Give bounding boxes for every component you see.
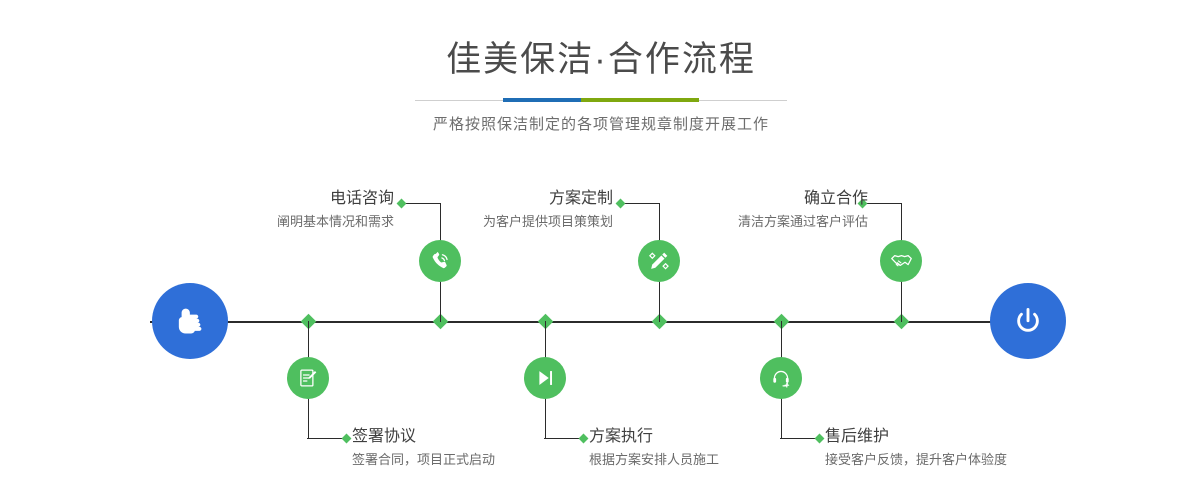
- connector-horizontal-1: [401, 203, 440, 204]
- step-name-1: 电话咨询: [277, 188, 394, 210]
- step-label-1: 电话咨询 阐明基本情况和需求: [277, 188, 394, 232]
- connector-horizontal-4: [544, 438, 583, 439]
- handshake-icon: [889, 249, 914, 274]
- step-name-4: 方案执行: [589, 426, 719, 448]
- label-marker-4: [579, 434, 589, 444]
- step-name-3: 方案定制: [483, 188, 613, 210]
- headset-support-icon: [769, 366, 793, 390]
- power-icon: [1008, 301, 1048, 341]
- timeline-axis: [150, 321, 1052, 323]
- step-name-6: 确立合作: [738, 188, 868, 210]
- pencil-ruler-icon: [647, 249, 671, 273]
- step-label-3: 方案定制 为客户提供项目策策划: [483, 188, 613, 232]
- step-label-4: 方案执行 根据方案安排人员施工: [589, 426, 719, 470]
- step-desc-1: 阐明基本情况和需求: [277, 212, 394, 232]
- step-icon-6: [880, 240, 922, 282]
- flow-infographic: 佳美保洁·合作流程 严格按照保洁制定的各项管理规章制度开展工作: [0, 0, 1202, 502]
- step-icon-4: [524, 357, 566, 399]
- step-icon-1: [419, 240, 461, 282]
- step-icon-3: [638, 240, 680, 282]
- step-desc-3: 为客户提供项目策策划: [483, 212, 613, 232]
- step-desc-6: 清洁方案通过客户评估: [738, 212, 868, 232]
- document-pencil-icon: [296, 366, 320, 390]
- step-label-6: 确立合作 清洁方案通过客户评估: [738, 188, 868, 232]
- connector-horizontal-2: [307, 438, 346, 439]
- label-marker-2: [342, 434, 352, 444]
- step-icon-5: [760, 357, 802, 399]
- timeline-end-badge: [990, 283, 1066, 359]
- connector-horizontal-3: [620, 203, 659, 204]
- label-marker-3: [616, 198, 626, 208]
- label-marker-5: [815, 434, 825, 444]
- timeline: 电话咨询 阐明基本情况和需求 签署协议 签署合同，项目正式启动: [0, 0, 1202, 502]
- connector-horizontal-5: [780, 438, 819, 439]
- step-desc-2: 签署合同，项目正式启动: [352, 450, 495, 470]
- step-label-2: 签署协议 签署合同，项目正式启动: [352, 426, 495, 470]
- step-desc-4: 根据方案安排人员施工: [589, 450, 719, 470]
- timeline-start-badge: [152, 283, 228, 359]
- play-forward-icon: [533, 366, 557, 390]
- phone-call-icon: [428, 249, 452, 273]
- step-name-2: 签署协议: [352, 426, 495, 448]
- pointing-hand-icon: [169, 300, 211, 342]
- label-marker-1: [397, 198, 407, 208]
- step-name-5: 售后维护: [825, 426, 1007, 448]
- step-icon-2: [287, 357, 329, 399]
- step-desc-5: 接受客户反馈，提升客户体验度: [825, 450, 1007, 470]
- step-label-5: 售后维护 接受客户反馈，提升客户体验度: [825, 426, 1007, 470]
